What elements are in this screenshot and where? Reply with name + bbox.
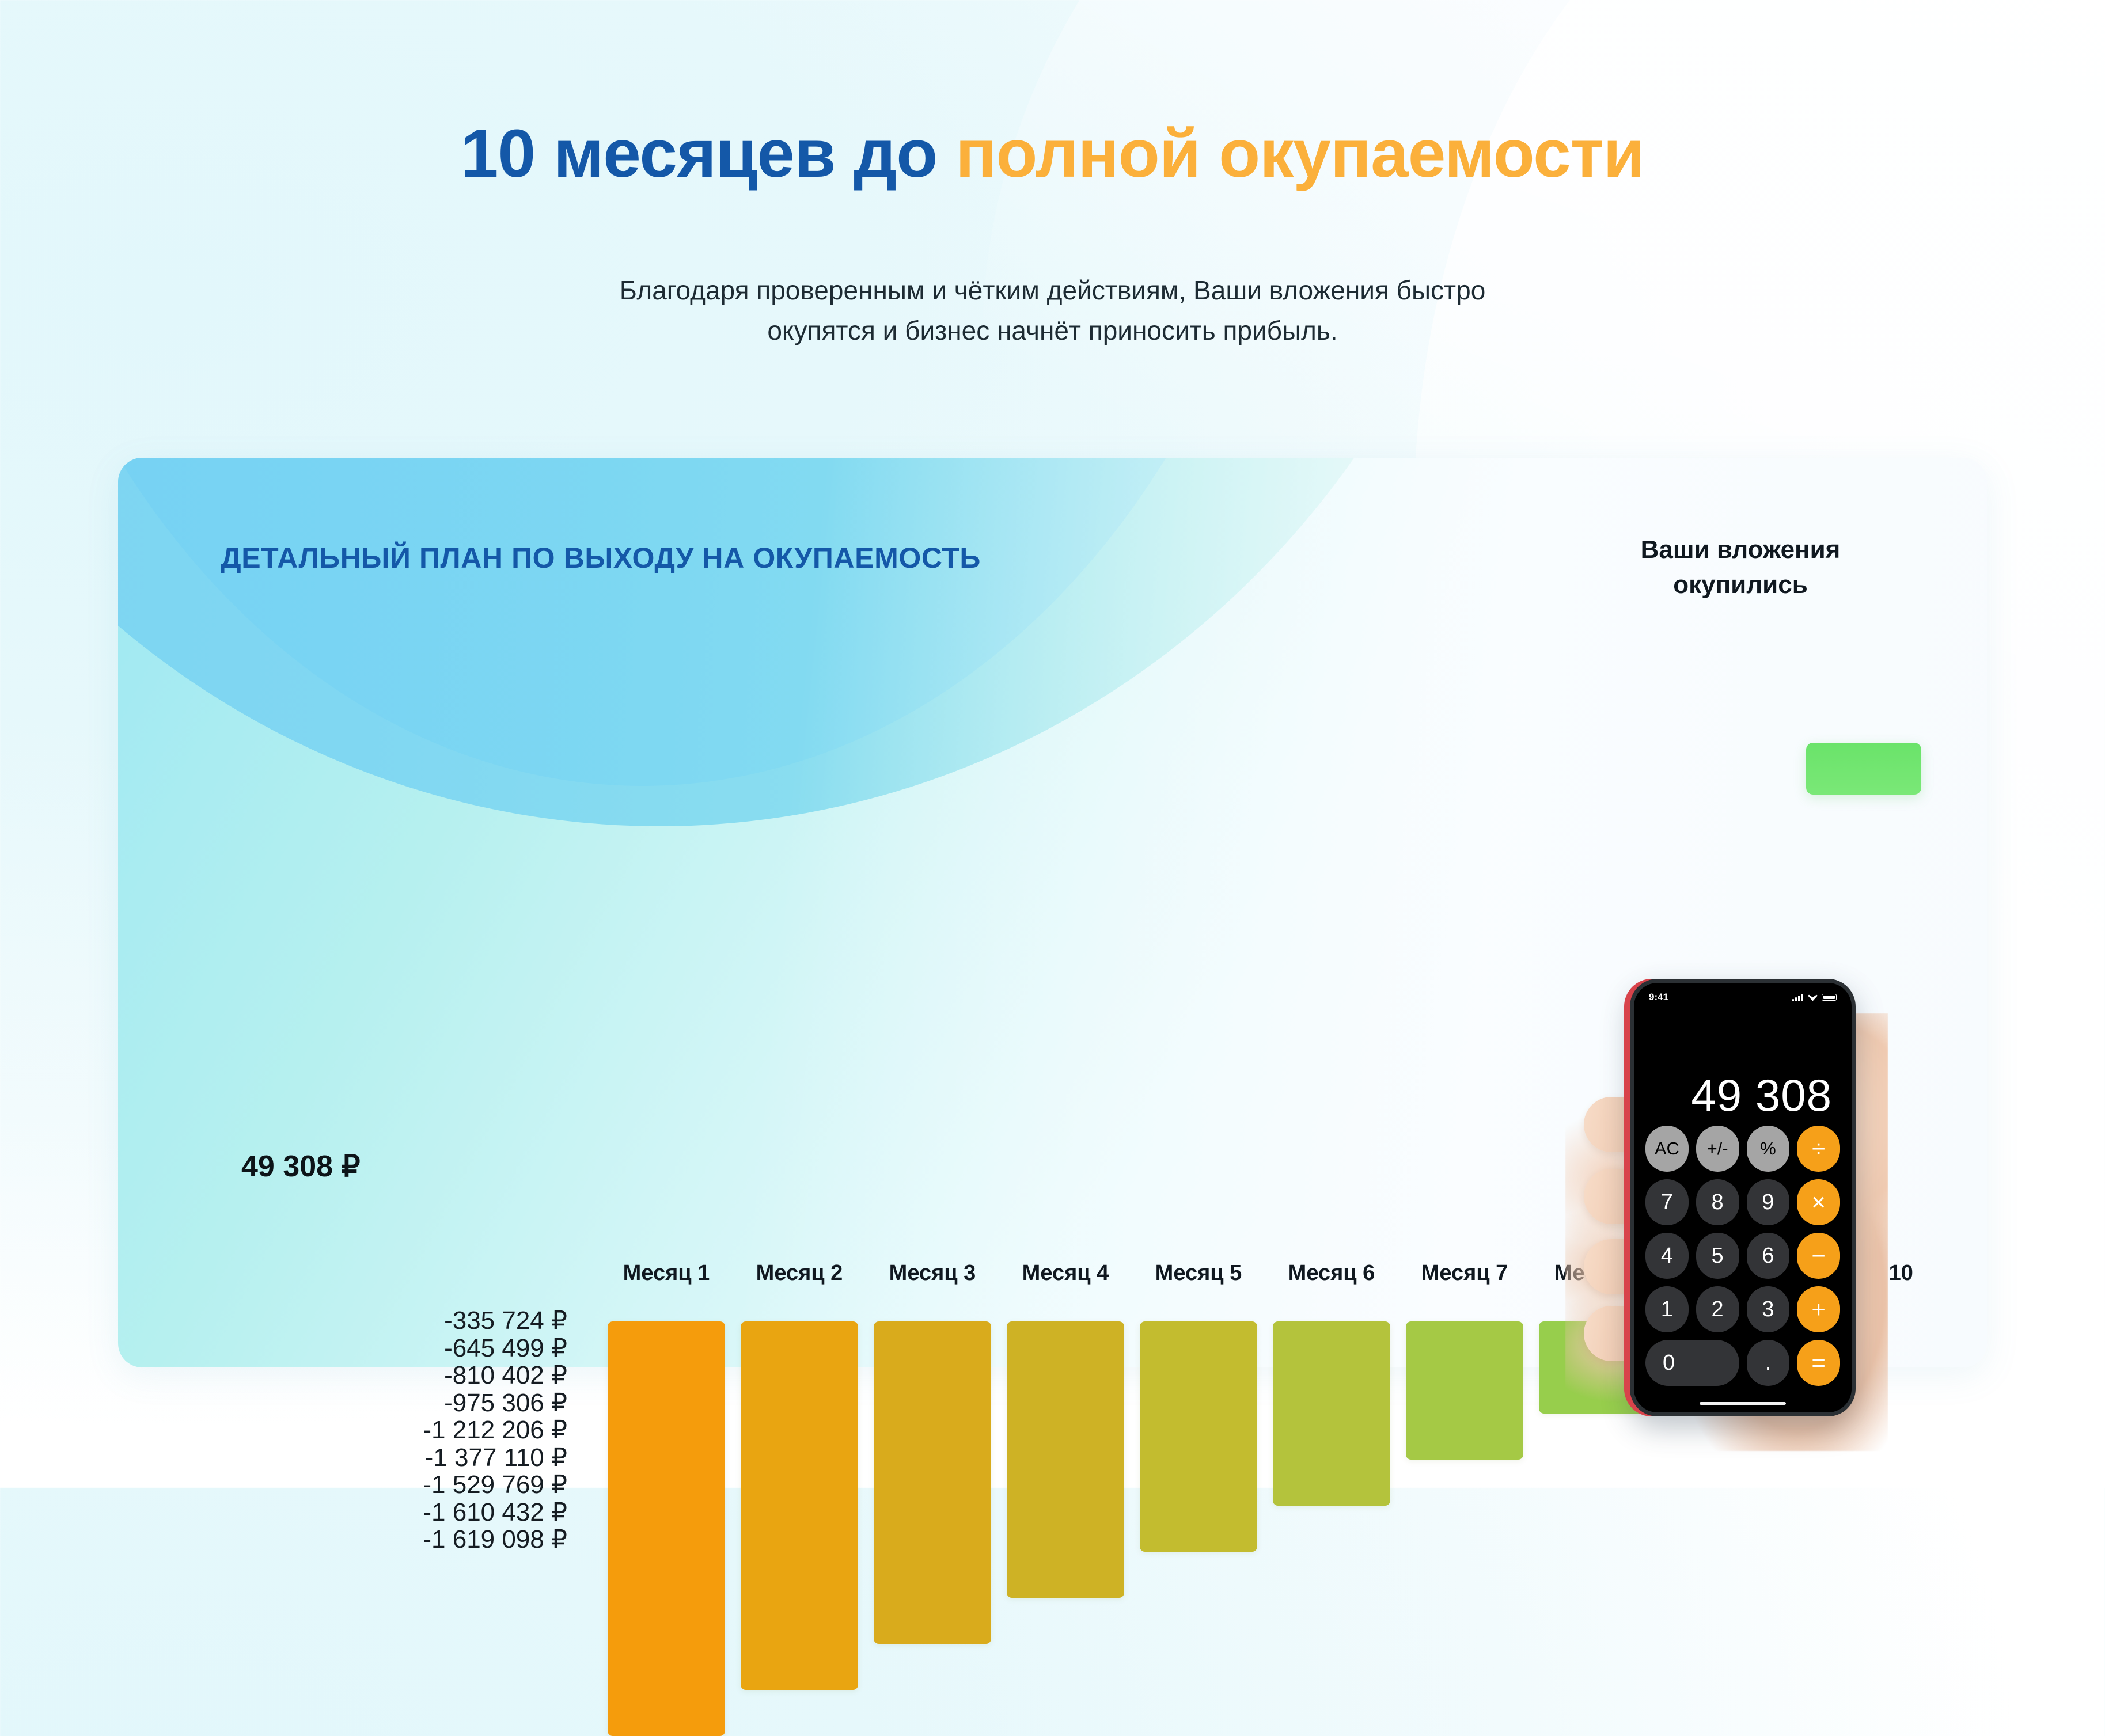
y-axis-tick-label: -1 377 110 ₽ [325, 1444, 567, 1472]
payback-callout-line-1: Ваши вложения [1596, 533, 1884, 568]
status-icons [1792, 994, 1837, 1001]
calculator-display: 49 308 [1653, 1069, 1832, 1122]
calculator-key-[interactable]: % [1747, 1126, 1790, 1172]
calculator-key-[interactable]: × [1797, 1179, 1840, 1225]
calculator-key-AC[interactable]: AC [1645, 1126, 1689, 1172]
phone-screen: 9:41 49 308 AC+/-%÷789×456−123+0.= [1634, 983, 1852, 1412]
calculator-key-9[interactable]: 9 [1747, 1179, 1790, 1225]
bar [874, 1321, 991, 1644]
calculator-key-[interactable]: +/- [1696, 1126, 1739, 1172]
y-axis-tick-label: -1 212 206 ₽ [325, 1416, 567, 1444]
bar [741, 1321, 858, 1690]
payback-callout: Ваши вложения окупились [1596, 533, 1884, 602]
page-subtitle-line-1: Благодаря проверенным и чётким действиям… [0, 271, 2105, 311]
calculator-key-3[interactable]: 3 [1747, 1286, 1790, 1332]
calculator-keypad: AC+/-%÷789×456−123+0.= [1645, 1126, 1840, 1386]
page-title-orange: полной окупаемости [955, 116, 1644, 192]
calculator-key-5[interactable]: 5 [1696, 1233, 1739, 1279]
wifi-icon [1808, 994, 1818, 1001]
y-axis-tick-label: -975 306 ₽ [325, 1389, 567, 1417]
calculator-key-1[interactable]: 1 [1645, 1286, 1689, 1332]
y-axis-tick-label: -1 529 769 ₽ [325, 1471, 567, 1499]
card-title: ДЕТАЛЬНЫЙ ПЛАН ПО ВЫХОДУ НА ОКУПАЕМОСТЬ [221, 541, 981, 575]
bar [608, 1321, 725, 1736]
smartphone: 9:41 49 308 AC+/-%÷789×456−123+0.= [1630, 979, 1856, 1416]
calculator-key-0[interactable]: 0 [1645, 1340, 1739, 1386]
page-title: 10 месяцев до полной окупаемости [0, 118, 2105, 190]
signal-icon [1792, 994, 1804, 1001]
calculator-key-7[interactable]: 7 [1645, 1179, 1689, 1225]
calculator-key-[interactable]: − [1797, 1233, 1840, 1279]
calculator-key-2[interactable]: 2 [1696, 1286, 1739, 1332]
status-bar: 9:41 [1634, 989, 1852, 1006]
page-subtitle: Благодаря проверенным и чётким действиям… [0, 271, 2105, 351]
calculator-key-[interactable]: = [1797, 1340, 1840, 1386]
status-time: 9:41 [1649, 992, 1668, 1003]
calculator-key-[interactable]: . [1747, 1340, 1790, 1386]
y-axis-tick-label: -1 619 098 ₽ [325, 1526, 567, 1553]
calculator-key-4[interactable]: 4 [1645, 1233, 1689, 1279]
page-title-blue: 10 месяцев до [461, 116, 937, 192]
battery-icon [1822, 994, 1837, 1001]
y-axis-tick-label: -1 610 432 ₽ [325, 1499, 567, 1526]
home-indicator [1700, 1402, 1786, 1405]
calculator-key-[interactable]: + [1797, 1286, 1840, 1332]
page-subtitle-line-2: окупятся и бизнес начнёт приносить прибы… [0, 311, 2105, 351]
calculator-key-[interactable]: ÷ [1797, 1126, 1840, 1172]
calculator-key-6[interactable]: 6 [1747, 1233, 1790, 1279]
phone-illustration: 9:41 49 308 AC+/-%÷789×456−123+0.= [1595, 979, 1918, 1439]
calculator-key-8[interactable]: 8 [1696, 1179, 1739, 1225]
payback-callout-line-2: окупились [1596, 568, 1884, 603]
